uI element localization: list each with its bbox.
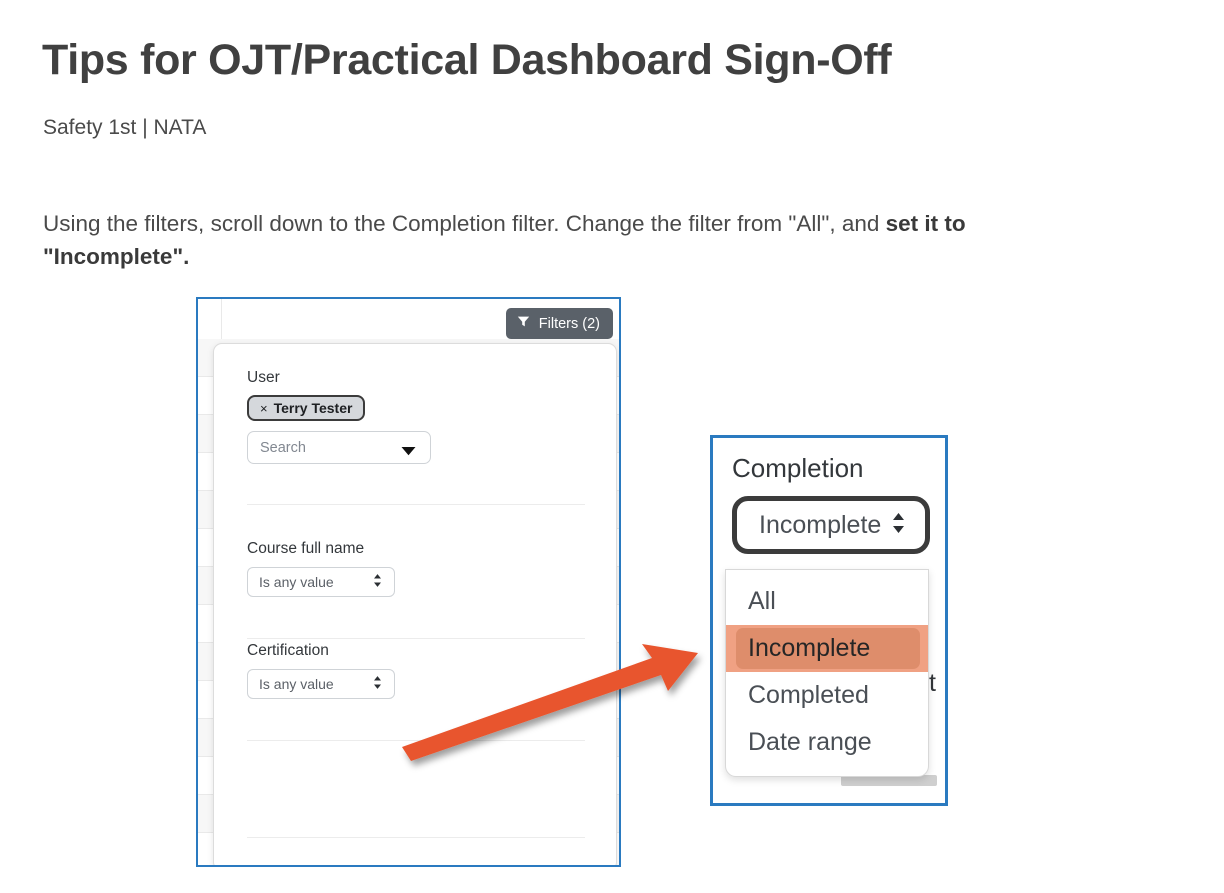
menu-item-date-range[interactable]: Date range: [726, 719, 928, 766]
filter-label-user: User: [247, 369, 617, 387]
caret-down-icon[interactable]: [401, 444, 416, 460]
menu-item-label: Completed: [748, 681, 869, 710]
background-text-clip: t: [929, 669, 936, 698]
user-chip-terry-tester[interactable]: × Terry Tester: [247, 395, 365, 421]
completion-select-open[interactable]: Incomplete: [732, 496, 930, 554]
filters-button-label: Filters (2): [539, 316, 600, 332]
completion-selected-value: Incomplete: [737, 511, 881, 540]
filter-label-course-full-name: Course full name: [247, 540, 617, 558]
certification-select[interactable]: Is any value: [247, 669, 395, 699]
menu-item-completed[interactable]: Completed: [726, 672, 928, 719]
user-search-placeholder: Search: [248, 440, 306, 456]
filters-toggle-button[interactable]: Filters (2): [506, 308, 613, 339]
filter-actions: Apply Reset all: [214, 865, 617, 867]
filter-card: User × Terry Tester Search Course full n…: [213, 343, 617, 867]
updown-arrows-icon: [891, 512, 906, 539]
updown-arrows-icon: [373, 676, 382, 693]
course-full-name-value: Is any value: [248, 574, 334, 590]
instruction-text: Using the filters, scroll down to the Co…: [43, 207, 1053, 273]
filter-group-user: User × Terry Tester Search: [214, 369, 617, 464]
filter-divider: [247, 837, 585, 838]
menu-item-all[interactable]: All: [726, 578, 928, 625]
filter-label-certification: Certification: [247, 642, 617, 660]
menu-item-label: Incomplete: [736, 628, 920, 669]
filter-group-course-full-name: Course full name Is any value: [214, 540, 617, 597]
menu-item-label: Date range: [748, 728, 872, 757]
certification-value: Is any value: [248, 676, 334, 692]
user-chip-label: Terry Tester: [274, 400, 353, 416]
user-search-input[interactable]: Search: [247, 431, 431, 464]
completion-options-menu: All Incomplete Completed Date range: [725, 569, 929, 777]
course-full-name-select[interactable]: Is any value: [247, 567, 395, 597]
apply-button[interactable]: Apply: [247, 865, 308, 867]
menu-item-incomplete[interactable]: Incomplete: [726, 625, 928, 672]
filter-divider: [247, 504, 585, 505]
funnel-icon: [517, 315, 530, 332]
filter-divider: [247, 740, 585, 741]
page-subtitle: Safety 1st | NATA: [43, 116, 206, 140]
instruction-line-2-prefix: and: [842, 211, 886, 236]
instruction-line-1: Using the filters, scroll down to the Co…: [43, 211, 836, 236]
menu-item-label: All: [748, 587, 776, 616]
remove-chip-icon[interactable]: ×: [260, 401, 268, 416]
filter-divider: [247, 638, 585, 639]
page-title: Tips for OJT/Practical Dashboard Sign-Of…: [42, 36, 891, 85]
updown-arrows-icon: [373, 574, 382, 591]
filters-panel-screenshot: Sign off activity Filters (2) User × Ter…: [196, 297, 621, 867]
completion-label: Completion: [732, 453, 864, 484]
completion-dropdown-screenshot: t Completion Incomplete All Incomplete C…: [710, 435, 948, 806]
filter-group-certification: Certification Is any value: [214, 642, 617, 699]
